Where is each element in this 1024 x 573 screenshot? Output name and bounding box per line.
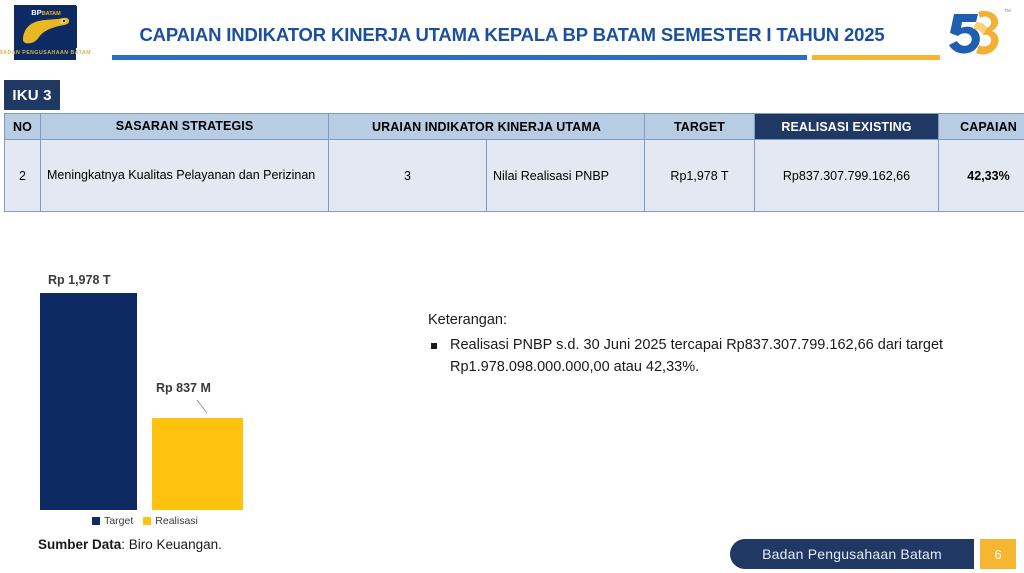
legend-item-realisasi: Realisasi	[143, 515, 198, 527]
page-title: CAPAIAN INDIKATOR KINERJA UTAMA KEPALA B…	[112, 24, 912, 46]
legend-item-target: Target	[92, 515, 133, 527]
column-header-realisasi-existing: REALISASI EXISTING	[755, 114, 939, 140]
anniversary-53-logo-icon: ™	[934, 2, 1012, 60]
svg-text:™: ™	[1004, 9, 1011, 16]
legend-swatch-target-icon	[92, 517, 100, 525]
title-rule-blue	[112, 55, 807, 60]
footer-page-number: 6	[980, 539, 1016, 569]
bar-target	[40, 293, 137, 510]
table-row: 2 Meningkatnya Kualitas Pelayanan dan Pe…	[5, 140, 1024, 212]
cell-realisasi: Rp837.307.799.162,66	[755, 140, 939, 212]
iku-table: NO SASARAN STRATEGIS URAIAN INDIKATOR KI…	[4, 113, 1024, 212]
logo-caption: BADAN PENGUSAHAAN BATAM	[0, 48, 92, 59]
keterangan-title: Keterangan:	[428, 312, 988, 328]
legend-label-target: Target	[104, 515, 133, 527]
keterangan-list: Realisasi PNBP s.d. 30 Juni 2025 tercapa…	[428, 334, 988, 379]
column-header-uraian: URAIAN INDIKATOR KINERJA UTAMA	[329, 114, 645, 140]
cell-index: 3	[329, 140, 487, 212]
legend-swatch-realisasi-icon	[143, 517, 151, 525]
chart-legend: Target Realisasi	[0, 515, 290, 527]
source-note: Sumber Data: Biro Keuangan.	[38, 537, 222, 552]
slide-root: BPBATAM BADAN PENGUSAHAAN BATAM CAPAIAN …	[0, 0, 1024, 573]
table-header-row: NO SASARAN STRATEGIS URAIAN INDIKATOR KI…	[5, 114, 1024, 140]
leader-line	[196, 400, 210, 414]
bar-chart: Rp 1,978 T Rp 837 M Target Realisasi	[0, 255, 330, 555]
keterangan-block: Keterangan: Realisasi PNBP s.d. 30 Juni …	[428, 312, 988, 379]
column-header-target: TARGET	[645, 114, 755, 140]
column-header-capaian: CAPAIAN	[939, 114, 1024, 140]
source-note-value: : Biro Keuangan.	[121, 537, 222, 552]
cell-sasaran: Meningkatnya Kualitas Pelayanan dan Peri…	[41, 140, 329, 212]
bp-batam-logo: BPBATAM BADAN PENGUSAHAAN BATAM	[14, 5, 76, 60]
bar-data-label-realisasi: Rp 837 M	[156, 381, 211, 395]
legend-label-realisasi: Realisasi	[155, 515, 198, 527]
cell-capaian: 42,33%	[939, 140, 1024, 212]
cell-target: Rp1,978 T	[645, 140, 755, 212]
source-note-prefix: Sumber Data	[38, 537, 121, 552]
keterangan-item: Realisasi PNBP s.d. 30 Juni 2025 tercapa…	[428, 334, 988, 379]
title-rule-gold	[812, 55, 940, 60]
column-header-no: NO	[5, 114, 41, 140]
iku-badge: IKU 3	[4, 80, 60, 110]
cell-uraian: Nilai Realisasi PNBP	[487, 140, 645, 212]
bar-data-label-target: Rp 1,978 T	[48, 273, 111, 287]
bar-realisasi	[152, 418, 243, 510]
column-header-sasaran: SASARAN STRATEGIS	[41, 114, 329, 140]
cell-no: 2	[5, 140, 41, 212]
footer-org-label: Badan Pengusahaan Batam	[730, 539, 974, 569]
chart-plot-area: Rp 1,978 T Rp 837 M	[0, 273, 300, 510]
bp-batam-emblem-icon: BPBATAM	[15, 6, 77, 48]
